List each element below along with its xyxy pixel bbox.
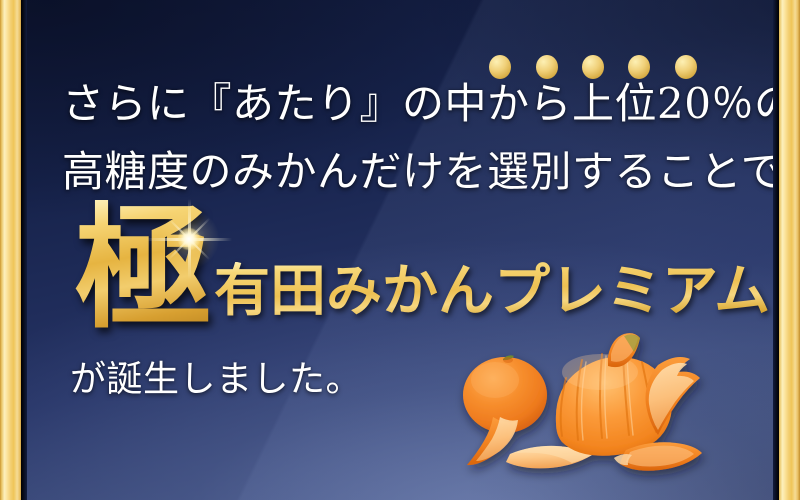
mandarin-orange-illustration: [448, 330, 748, 500]
banner-content: さらに『あたり』の中から上位20％の 高糖度のみかんだけを選別することで、 極 …: [0, 0, 800, 500]
emphasis-dot: [536, 55, 558, 79]
emphasis-dot: [582, 55, 604, 79]
brand-kanji-goku: 極: [75, 200, 213, 335]
gold-rail-edge-right: [773, 0, 779, 500]
closing-line: が誕生しました。: [70, 358, 362, 402]
brand-name-text: 有田みかんプレミアム: [214, 262, 770, 322]
promo-banner: さらに『あたり』の中から上位20％の 高糖度のみかんだけを選別することで、 極 …: [0, 0, 800, 500]
headline-line-1: さらに『あたり』の中から上位20％の: [62, 80, 796, 128]
gold-rail-fill-left: [0, 0, 22, 500]
gold-border-left: [0, 0, 27, 500]
gold-rail-fill-right: [778, 0, 800, 500]
emphasis-dot: [675, 55, 697, 79]
emphasis-dot: [628, 55, 650, 79]
emphasis-dots-row: [489, 55, 699, 79]
gold-border-right: [773, 0, 800, 500]
emphasis-dot: [489, 55, 511, 79]
gold-rail-edge-left: [21, 0, 27, 500]
